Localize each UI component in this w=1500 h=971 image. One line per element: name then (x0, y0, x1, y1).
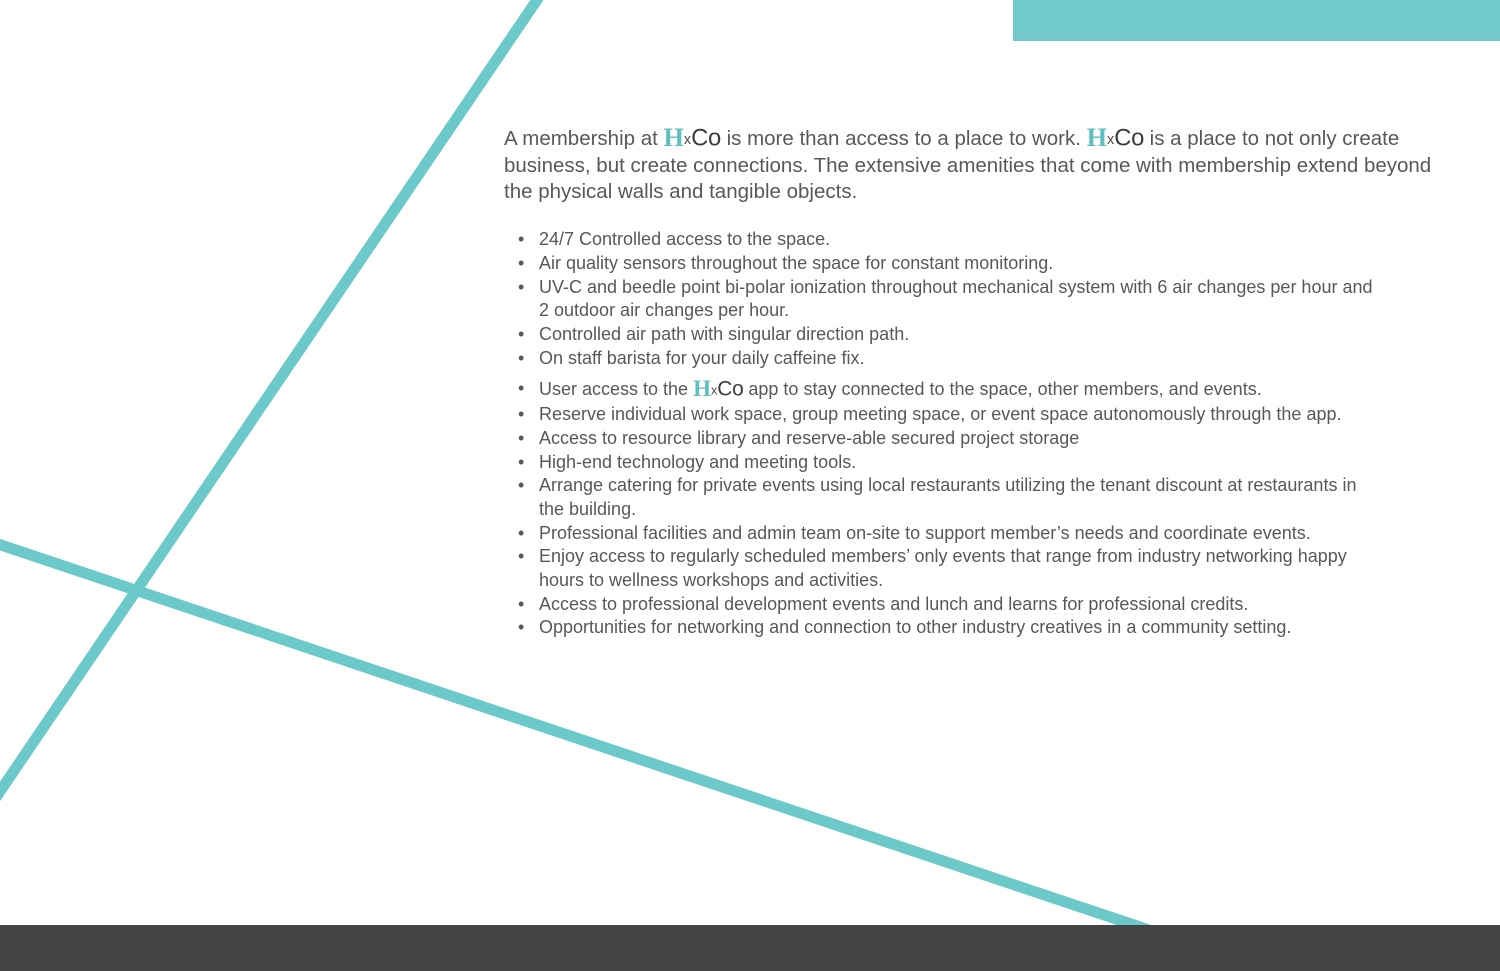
feature-text: Reserve individual work space, group mee… (539, 404, 1341, 424)
logo-letters-co: Co (717, 378, 743, 401)
bullet-icon: • (518, 252, 524, 276)
hxco-logo-inline-1: HxCo (664, 127, 721, 150)
hxco-logo-inline-bullet: HxCo (693, 379, 743, 399)
bullet-icon: • (518, 276, 524, 300)
feature-text: Access to resource library and reserve-a… (539, 428, 1079, 448)
logo-letter-h: H (664, 123, 684, 152)
feature-list-item: •Controlled air path with singular direc… (504, 323, 1384, 347)
feature-list-item: •Air quality sensors throughout the spac… (504, 252, 1384, 276)
features-list: •24/7 Controlled access to the space.•Ai… (504, 228, 1384, 640)
intro-text-part2: is more than access to a place to work. (721, 127, 1087, 150)
feature-list-item: •Arrange catering for private events usi… (504, 474, 1384, 521)
feature-list-item: •User access to the HxCo app to stay con… (504, 377, 1384, 403)
feature-list-item: •Access to resource library and reserve-… (504, 427, 1384, 451)
bullet-icon: • (518, 616, 524, 640)
feature-list-item: •Access to professional development even… (504, 593, 1384, 617)
feature-text-pre: User access to the (539, 379, 693, 399)
feature-text: Controlled air path with singular direct… (539, 324, 909, 344)
feature-list-item: •24/7 Controlled access to the space. (504, 228, 1384, 252)
feature-text: On staff barista for your daily caffeine… (539, 348, 865, 368)
bullet-icon: • (518, 545, 524, 569)
bullet-icon: • (518, 522, 524, 546)
feature-text: 24/7 Controlled access to the space. (539, 229, 830, 249)
feature-text: Enjoy access to regularly scheduled memb… (539, 546, 1347, 590)
slide-canvas: Additional Features A membership at HxCo… (0, 0, 1500, 971)
feature-text: Professional facilities and admin team o… (539, 523, 1311, 543)
feature-text: Arrange catering for private events usin… (539, 475, 1356, 519)
feature-list-item: •Enjoy access to regularly scheduled mem… (504, 545, 1384, 592)
feature-text: UV-C and beedle point bi-polar ionizatio… (539, 277, 1373, 321)
bullet-icon: • (518, 427, 524, 451)
intro-paragraph: A membership at HxCo is more than access… (504, 125, 1456, 205)
steep-diagonal-line (0, 0, 541, 812)
feature-list-item: •Opportunities for networking and connec… (504, 616, 1384, 640)
feature-text-post: app to stay connected to the space, othe… (743, 379, 1261, 399)
bullet-icon: • (518, 403, 524, 427)
intro-text-part1: A membership at (504, 127, 664, 150)
feature-text: Access to professional development event… (539, 594, 1248, 614)
feature-list-item: •Professional facilities and admin team … (504, 522, 1384, 546)
bullet-icon: • (518, 347, 524, 371)
logo-letter-h: H (693, 375, 711, 401)
header-band (1013, 0, 1500, 41)
feature-list-item: •High-end technology and meeting tools. (504, 451, 1384, 475)
main-content: A membership at HxCo is more than access… (504, 104, 1464, 640)
bullet-icon: • (518, 228, 524, 252)
feature-text: High-end technology and meeting tools. (539, 452, 856, 472)
feature-list-item: •Reserve individual work space, group me… (504, 403, 1384, 427)
logo-letters-co: Co (1114, 124, 1144, 151)
logo-letter-h: H (1087, 123, 1107, 152)
feature-list-item: •On staff barista for your daily caffein… (504, 347, 1384, 371)
feature-list-item: •UV-C and beedle point bi-polar ionizati… (504, 276, 1384, 323)
bullet-icon: • (518, 593, 524, 617)
bullet-icon: • (518, 323, 524, 347)
feature-text: Air quality sensors throughout the space… (539, 253, 1053, 273)
hxco-logo-inline-2: HxCo (1087, 127, 1144, 150)
feature-text: Opportunities for networking and connect… (539, 617, 1291, 637)
logo-letters-co: Co (691, 124, 721, 151)
footer-band (0, 925, 1500, 971)
bullet-icon: • (518, 451, 524, 475)
bullet-icon: • (518, 377, 524, 401)
bullet-icon: • (518, 474, 524, 498)
